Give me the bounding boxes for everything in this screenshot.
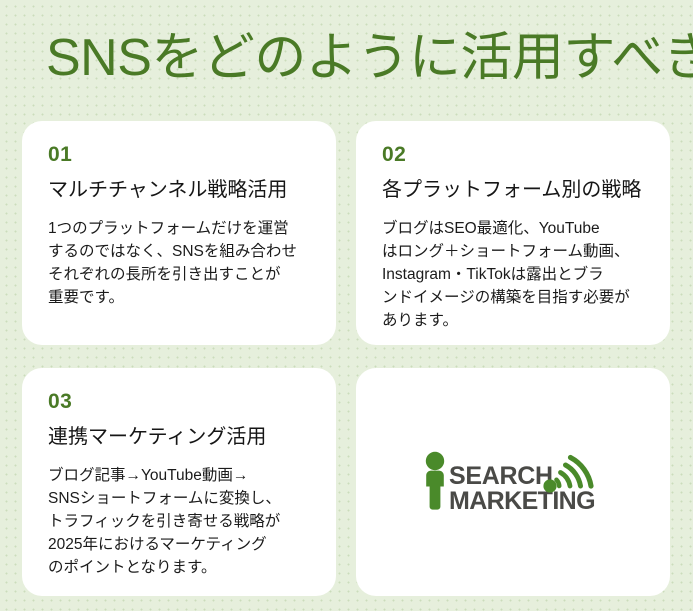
info-card-03[interactable]: 03 連携マーケティング活用 ブログ記事→YouTube動画→ SNSショートフ… xyxy=(22,368,336,596)
card-number: 02 xyxy=(382,143,644,167)
slide-root: SNSをどのように活用すべきか 01 マルチチャンネル戦略活用 1つのプラットフ… xyxy=(0,0,693,611)
logo-container: SEARCH MARKETING xyxy=(356,368,670,596)
card-body-text: ブログはSEO最適化、YouTube はロング＋ショートフォーム動画、 Inst… xyxy=(382,217,644,332)
info-card-01[interactable]: 01 マルチチャンネル戦略活用 1つのプラットフォームだけを運営 するのではなく… xyxy=(22,121,336,345)
card-heading: 連携マーケティング活用 xyxy=(48,424,310,450)
isearch-marketing-logo: SEARCH MARKETING xyxy=(420,451,606,513)
card-body-text: 1つのプラットフォームだけを運営 するのではなく、SNSを組み合わせ それぞれの… xyxy=(48,217,310,309)
info-card-02[interactable]: 02 各プラットフォーム別の戦略 ブログはSEO最適化、YouTube はロング… xyxy=(356,121,670,345)
card-heading: 各プラットフォーム別の戦略 xyxy=(382,177,644,203)
page-title: SNSをどのように活用すべきか xyxy=(46,26,666,90)
card-content: 02 各プラットフォーム別の戦略 ブログはSEO最適化、YouTube はロング… xyxy=(356,121,670,332)
card-number: 03 xyxy=(48,390,310,414)
card-content: 01 マルチチャンネル戦略活用 1つのプラットフォームだけを運営 するのではなく… xyxy=(22,121,336,309)
logo-line1-text: SEARCH xyxy=(449,462,553,490)
logo-line2-text: MARKETING xyxy=(449,487,595,513)
card-content: 03 連携マーケティング活用 ブログ記事→YouTube動画→ SNSショートフ… xyxy=(22,368,336,579)
i-person-icon xyxy=(426,452,444,510)
logo-card[interactable]: SEARCH MARKETING xyxy=(356,368,670,596)
card-body-text: ブログ記事→YouTube動画→ SNSショートフォームに変換し、 トラフィック… xyxy=(48,464,310,579)
card-heading: マルチチャンネル戦略活用 xyxy=(48,177,310,203)
card-number: 01 xyxy=(48,143,310,167)
